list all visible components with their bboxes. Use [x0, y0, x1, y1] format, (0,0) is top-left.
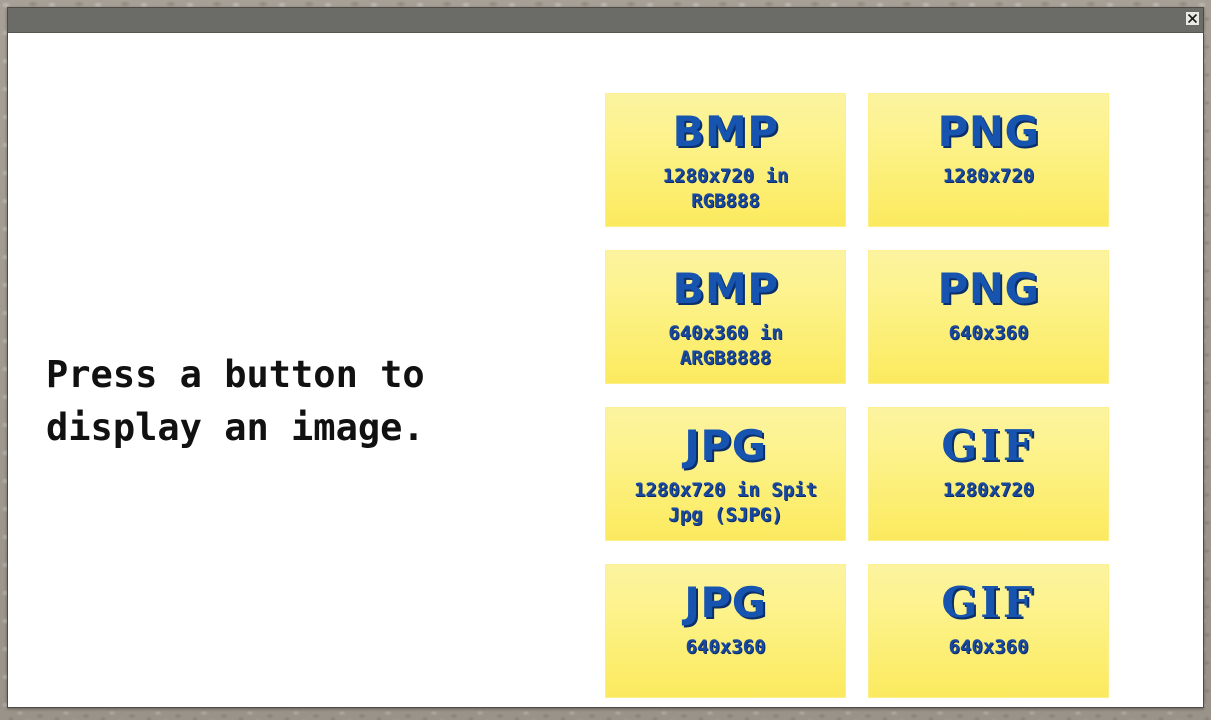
client-area: Press a button to display an image. BMP … [8, 33, 1203, 707]
button-format-label: JPG [684, 425, 766, 467]
button-format-label: GIF [941, 582, 1035, 624]
button-bmp-1280x720-rgb888[interactable]: BMP 1280x720 in RGB888 [605, 93, 846, 227]
button-png-1280x720[interactable]: PNG 1280x720 [868, 93, 1109, 227]
image-format-button-grid: BMP 1280x720 in RGB888 PNG 1280x720 BMP … [605, 93, 1116, 698]
button-png-640x360[interactable]: PNG 640x360 [868, 250, 1109, 384]
button-detail-label: 1280x720 in RGB888 [655, 164, 797, 214]
button-detail-label: 1280x720 [935, 164, 1043, 189]
button-format-label: PNG [938, 268, 1040, 310]
button-bmp-640x360-argb8888[interactable]: BMP 640x360 in ARGB8888 [605, 250, 846, 384]
window-title-bar[interactable] [8, 8, 1203, 33]
button-detail-label: 1280x720 in Spit Jpg (SJPG) [626, 478, 825, 528]
application-window: Press a button to display an image. BMP … [7, 7, 1204, 708]
button-format-label: JPG [684, 582, 766, 624]
button-format-label: GIF [941, 425, 1035, 467]
button-format-label: BMP [672, 268, 778, 310]
button-jpg-640x360[interactable]: JPG 640x360 [605, 564, 846, 698]
button-format-label: PNG [938, 111, 1040, 153]
prompt-message: Press a button to display an image. [46, 348, 566, 454]
button-gif-1280x720[interactable]: GIF 1280x720 [868, 407, 1109, 541]
button-jpg-1280x720-sjpg[interactable]: JPG 1280x720 in Spit Jpg (SJPG) [605, 407, 846, 541]
button-format-label: BMP [672, 111, 778, 153]
close-icon[interactable] [1185, 11, 1200, 26]
button-detail-label: 640x360 in ARGB8888 [660, 321, 790, 371]
button-detail-label: 640x360 [940, 635, 1036, 660]
button-detail-label: 640x360 [677, 635, 773, 660]
button-detail-label: 1280x720 [935, 478, 1043, 503]
button-detail-label: 640x360 [940, 321, 1036, 346]
button-gif-640x360[interactable]: GIF 640x360 [868, 564, 1109, 698]
